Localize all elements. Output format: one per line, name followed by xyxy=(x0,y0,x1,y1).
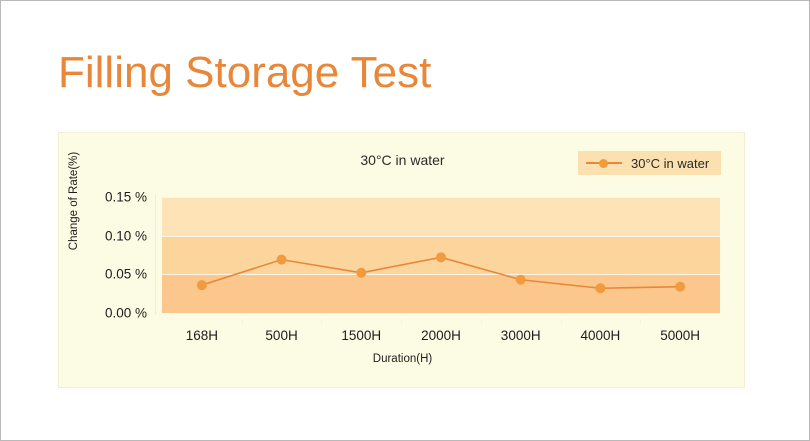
x-axis-tick-mark xyxy=(242,319,243,324)
x-axis-tick-mark xyxy=(321,319,322,324)
x-axis-tick-mark xyxy=(640,319,641,324)
series-data-point[interactable] xyxy=(675,282,685,292)
y-axis-tick: 0.05 % xyxy=(105,267,147,282)
series-data-point[interactable] xyxy=(197,280,207,290)
x-axis-tick: 4000H xyxy=(581,328,621,343)
x-axis-tick: 3000H xyxy=(501,328,541,343)
x-axis-tick: 500H xyxy=(265,328,297,343)
chart-card: 30°C in water 30°C in water Change of Ra… xyxy=(58,132,745,388)
y-axis-tick: 0.10 % xyxy=(105,228,147,243)
x-axis-tick: 168H xyxy=(186,328,218,343)
series-line-chart xyxy=(162,197,720,313)
x-axis-tick-mark xyxy=(401,319,402,324)
y-axis-tick: 0.00 % xyxy=(105,306,147,321)
x-axis-tick: 5000H xyxy=(660,328,700,343)
y-axis-tick-labels: 0.00 %0.05 %0.10 %0.15 % xyxy=(59,189,155,321)
series-data-point[interactable] xyxy=(595,283,605,293)
x-axis-tick-labels: 168H500H1500H2000H3000H4000H5000H xyxy=(162,319,720,339)
x-axis-tick-mark xyxy=(481,319,482,324)
series-data-point[interactable] xyxy=(277,255,287,265)
series-data-point[interactable] xyxy=(436,252,446,262)
y-axis-tick: 0.15 % xyxy=(105,190,147,205)
x-axis-tick-mark xyxy=(561,319,562,324)
chart-legend[interactable]: 30°C in water xyxy=(578,151,721,175)
x-axis-title: Duration(H) xyxy=(59,353,746,365)
series-data-point[interactable] xyxy=(356,268,366,278)
legend-label: 30°C in water xyxy=(631,156,709,171)
y-axis-line xyxy=(155,195,156,315)
x-axis-tick: 2000H xyxy=(421,328,461,343)
slide-canvas: Filling Storage Test 30°C in water 30°C … xyxy=(0,0,810,441)
plot-area xyxy=(162,197,720,313)
series-data-point[interactable] xyxy=(516,275,526,285)
x-axis-tick: 1500H xyxy=(341,328,381,343)
legend-marker-icon xyxy=(586,157,622,169)
page-title: Filling Storage Test xyxy=(58,50,431,96)
